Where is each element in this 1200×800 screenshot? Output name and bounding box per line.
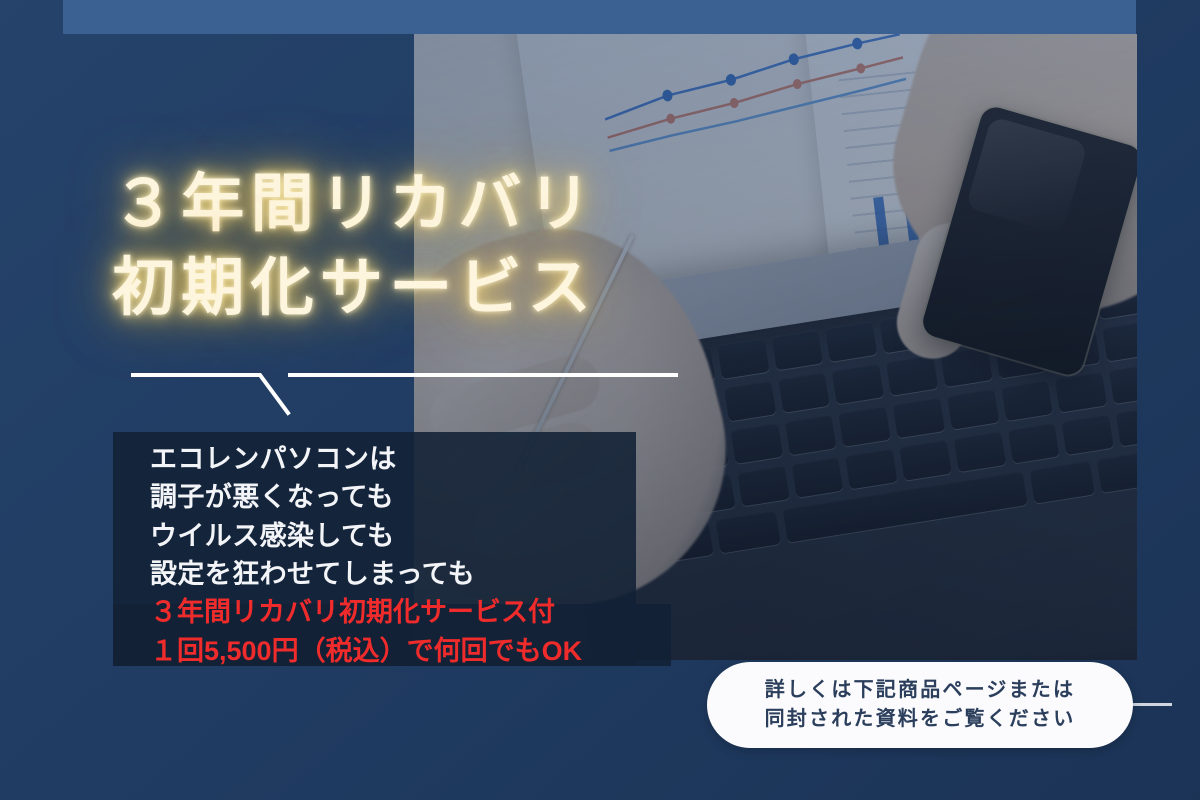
pill-text-block: 詳しくは下記商品ページまたは 同封された資料をご覧ください [765, 676, 1076, 734]
pill-line-2: 同封された資料をご覧ください [765, 705, 1076, 734]
copy-line-5-highlight: ３年間リカバリ初期化サービス付 [150, 593, 582, 631]
copy-block: エコレンパソコンは 調子が悪くなっても ウイルス感染しても 設定を狂わせてしまっ… [150, 440, 582, 670]
page-title: ３年間リカバリ 初期化サービス [112, 163, 872, 331]
info-callout-pill[interactable]: 詳しくは下記商品ページまたは 同封された資料をご覧ください [707, 662, 1133, 748]
copy-line-1: エコレンパソコンは [150, 440, 582, 478]
copy-line-6-highlight: １回5,500円（税込）で何回でもOK [150, 632, 582, 670]
top-accent-band [63, 0, 1136, 34]
headline-line-2: 初期化サービス [112, 247, 872, 331]
headline-line-1: ３年間リカバリ [112, 163, 872, 247]
copy-line-2: 調子が悪くなっても [150, 478, 582, 516]
copy-line-4: 設定を狂わせてしまっても [150, 555, 582, 593]
pill-line-1: 詳しくは下記商品ページまたは [765, 676, 1076, 705]
copy-line-3: ウイルス感染しても [150, 517, 582, 555]
angled-rule-decoration [120, 358, 690, 428]
promo-banner: ３年間リカバリ 初期化サービス エコレンパソコンは 調子が悪くなっても ウイルス… [0, 0, 1200, 800]
